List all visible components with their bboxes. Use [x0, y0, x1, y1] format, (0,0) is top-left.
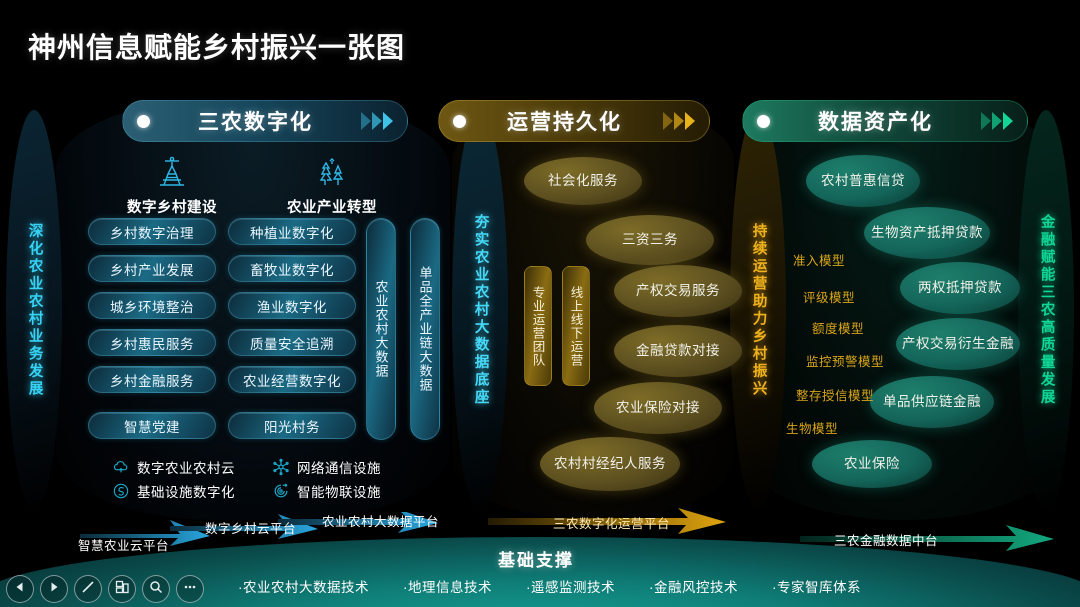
- ellipse-label: 两权抵押贷款: [918, 280, 1002, 296]
- layout-button[interactable]: [108, 575, 136, 603]
- ellipse-label: 金融贷款对接: [636, 343, 720, 359]
- category-label: 农业产业转型: [272, 196, 392, 217]
- chevron-right-icon: [663, 112, 695, 130]
- ellipse-label: 三资三务: [622, 232, 678, 248]
- next-button[interactable]: [40, 575, 68, 603]
- ellipse-rural-inclusive-credit[interactable]: 农村普惠信贷: [806, 155, 920, 207]
- ellipse-rural-broker-service[interactable]: 农村村经纪人服务: [540, 437, 680, 491]
- side-arc-label: 金融赋能三农高质量发展: [1038, 214, 1053, 407]
- infra-item-network[interactable]: 网络通信设施: [272, 457, 381, 477]
- header-pill-title: 数据资产化: [770, 106, 981, 136]
- chip-rural-welfare-service[interactable]: 乡村惠民服务: [88, 329, 216, 356]
- ellipse-three-capital-affairs[interactable]: 三资三务: [586, 215, 714, 265]
- ellipse-agri-insurance[interactable]: 农业保险: [812, 440, 932, 488]
- chip-fishery-digital[interactable]: 渔业数字化: [228, 292, 356, 319]
- chip-label: 畜牧业数字化: [250, 259, 334, 279]
- chip-planting-digital[interactable]: 种植业数字化: [228, 218, 356, 245]
- base-item: ·农业农村大数据技术: [238, 576, 369, 596]
- vchip-label: 专业运营团队: [529, 286, 548, 367]
- infra-item-cloud[interactable]: 数字农业农村云: [112, 457, 235, 477]
- ellipse-label: 社会化服务: [548, 173, 618, 189]
- base-item: ·遥感监测技术: [526, 576, 615, 596]
- village-build-icon: [112, 148, 232, 192]
- infra-label: 网络通信设施: [297, 457, 381, 477]
- ellipse-social-service[interactable]: 社会化服务: [524, 157, 642, 205]
- ellipse-label: 农业保险对接: [616, 400, 700, 416]
- chip-quality-traceability[interactable]: 质量安全追溯: [228, 329, 356, 356]
- category-digital-village: 数字乡村建设: [112, 148, 232, 217]
- model-label-credit-granting: 整存授信模型: [796, 385, 874, 404]
- chevron-right-icon: [981, 112, 1013, 130]
- base-item: ·地理信息技术: [403, 576, 492, 596]
- ellipse-label: 产权交易衍生金融: [902, 336, 1014, 352]
- chip-label: 乡村惠民服务: [110, 333, 194, 353]
- agri-industry-icon: [272, 148, 392, 192]
- chip-label: 乡村产业发展: [110, 259, 194, 279]
- chip-sunshine-village-affairs[interactable]: 阳光村务: [228, 412, 356, 439]
- more-button[interactable]: [176, 575, 204, 603]
- network-icon: [272, 458, 290, 476]
- infra-item-infra-digital[interactable]: 基础设施数字化: [112, 481, 235, 501]
- iot-icon: [272, 482, 290, 500]
- model-label-access: 准入模型: [793, 250, 845, 269]
- side-arc-label: 持续运营助力乡村振兴: [750, 223, 765, 398]
- vchip-online-offline-ops[interactable]: 线上线下运营: [562, 266, 590, 386]
- chip-rural-digital-governance[interactable]: 乡村数字治理: [88, 218, 216, 245]
- side-arc-sustained-operation: 持续运营助力乡村振兴: [730, 110, 786, 510]
- chip-livestock-digital[interactable]: 畜牧业数字化: [228, 255, 356, 282]
- bullet-dot-icon: [757, 115, 770, 128]
- ellipse-label: 农业保险: [844, 456, 900, 472]
- base-item: ·专家智库体系: [772, 576, 861, 596]
- chip-rural-industry-dev[interactable]: 乡村产业发展: [88, 255, 216, 282]
- side-arc-finance-empower: 金融赋能三农高质量发展: [1018, 110, 1074, 510]
- search-button[interactable]: [142, 575, 170, 603]
- side-arc-consolidate-bigdata-base: 夯实农业农村大数据底座: [452, 110, 508, 510]
- ellipse-two-rights-mortgage[interactable]: 两权抵押贷款: [900, 262, 1020, 314]
- chip-label: 智慧党建: [124, 416, 180, 436]
- model-label-limit: 额度模型: [812, 318, 864, 337]
- chip-label: 乡村数字治理: [110, 222, 194, 242]
- pen-icon: [80, 579, 96, 600]
- vchip-single-product-chain-bigdata[interactable]: 单品全产业链大数据: [410, 218, 440, 440]
- model-label-biological: 生物模型: [786, 418, 838, 437]
- infra-label: 数字农业农村云: [137, 457, 235, 477]
- chip-urban-rural-env[interactable]: 城乡环境整治: [88, 292, 216, 319]
- category-label: 数字乡村建设: [112, 196, 232, 217]
- vchip-agri-rural-bigdata[interactable]: 农业农村大数据: [366, 218, 396, 440]
- base-item: ·金融风控技术: [649, 576, 738, 596]
- page-title: 神州信息赋能乡村振兴一张图: [28, 26, 405, 66]
- cloud-icon: [112, 458, 130, 476]
- platform-arrow-label-smart-agri-cloud: 智慧农业云平台: [78, 535, 169, 554]
- chip-label: 阳光村务: [264, 416, 320, 436]
- prev-button[interactable]: [6, 575, 34, 603]
- bullet-dot-icon: [137, 115, 150, 128]
- ellipse-agri-insurance-docking[interactable]: 农业保险对接: [594, 382, 722, 434]
- header-pill-operation[interactable]: 运营持久化: [438, 100, 710, 142]
- header-pill-title: 三农数字化: [150, 106, 361, 136]
- bullet-dot-icon: [453, 115, 466, 128]
- ellipse-label: 农村村经纪人服务: [554, 456, 666, 472]
- chip-rural-finance-service[interactable]: 乡村金融服务: [88, 366, 216, 393]
- infra-label: 智能物联设施: [297, 481, 381, 501]
- next-icon: [47, 580, 61, 599]
- vchip-label: 农业农村大数据: [372, 280, 391, 378]
- chip-label: 质量安全追溯: [250, 333, 334, 353]
- platform-arrow-label-digital-village-cloud: 数字乡村云平台: [205, 518, 296, 537]
- side-arc-deepen-agri-business: 深化农业农村业务发展: [6, 110, 62, 510]
- platform-arrow-label-three-agri-ops-platform: 三农数字化运营平台: [553, 513, 670, 532]
- chip-label: 城乡环境整治: [110, 296, 194, 316]
- ellipse-label: 单品供应链金融: [883, 394, 981, 410]
- base-support-title: 基础支撑: [498, 546, 574, 571]
- side-arc-label: 夯实农业农村大数据底座: [472, 214, 487, 407]
- vchip-label: 线上线下运营: [567, 286, 586, 367]
- more-icon: [182, 579, 198, 600]
- ellipse-label: 生物资产抵押贷款: [871, 225, 983, 241]
- chevron-right-icon: [361, 112, 393, 130]
- pen-button[interactable]: [74, 575, 102, 603]
- infra-label: 基础设施数字化: [137, 481, 235, 501]
- model-label-rating: 评级模型: [803, 287, 855, 306]
- infographic-canvas: 神州信息赋能乡村振兴一张图 深化农业农村业务发展 夯实农业农村大数据底座 持续运…: [0, 0, 1080, 607]
- chip-smart-party-building[interactable]: 智慧党建: [88, 412, 216, 439]
- side-arc-label: 深化农业农村业务发展: [26, 223, 41, 398]
- chip-label: 农业经营数字化: [243, 370, 341, 390]
- platform-arrow-label-agri-bigdata-platform: 农业农村大数据平台: [322, 511, 439, 530]
- header-pill-title: 运营持久化: [466, 106, 663, 136]
- search-icon: [148, 579, 164, 600]
- chip-agri-operation-digital[interactable]: 农业经营数字化: [228, 366, 356, 393]
- ellipse-label: 农村普惠信贷: [821, 173, 905, 189]
- chip-label: 乡村金融服务: [110, 370, 194, 390]
- ellipse-bio-asset-mortgage[interactable]: 生物资产抵押贷款: [864, 207, 990, 259]
- ellipse-single-product-supply-finance[interactable]: 单品供应链金融: [870, 376, 994, 428]
- vchip-label: 单品全产业链大数据: [416, 266, 435, 392]
- player-controls: [6, 575, 204, 603]
- model-label-monitor-warning: 监控预警模型: [806, 351, 884, 370]
- ellipse-finance-loan-docking[interactable]: 金融贷款对接: [614, 325, 742, 377]
- header-pill-digitization[interactable]: 三农数字化: [122, 100, 408, 142]
- vchip-professional-ops-team[interactable]: 专业运营团队: [524, 266, 552, 386]
- infra-item-iot[interactable]: 智能物联设施: [272, 481, 381, 501]
- chip-label: 渔业数字化: [257, 296, 327, 316]
- ellipse-property-derivative-finance[interactable]: 产权交易衍生金融: [896, 318, 1020, 370]
- chip-label: 种植业数字化: [250, 222, 334, 242]
- layout-icon: [114, 579, 130, 600]
- category-agri-industry: 农业产业转型: [272, 148, 392, 217]
- infra-digital-icon: [112, 482, 130, 500]
- header-pill-data-asset[interactable]: 数据资产化: [742, 100, 1028, 142]
- base-support-items: ·农业农村大数据技术 ·地理信息技术 ·遥感监测技术 ·金融风控技术 ·专家智库…: [238, 576, 861, 596]
- prev-icon: [13, 580, 27, 599]
- ellipse-property-rights-trade[interactable]: 产权交易服务: [614, 265, 742, 317]
- ellipse-label: 产权交易服务: [636, 283, 720, 299]
